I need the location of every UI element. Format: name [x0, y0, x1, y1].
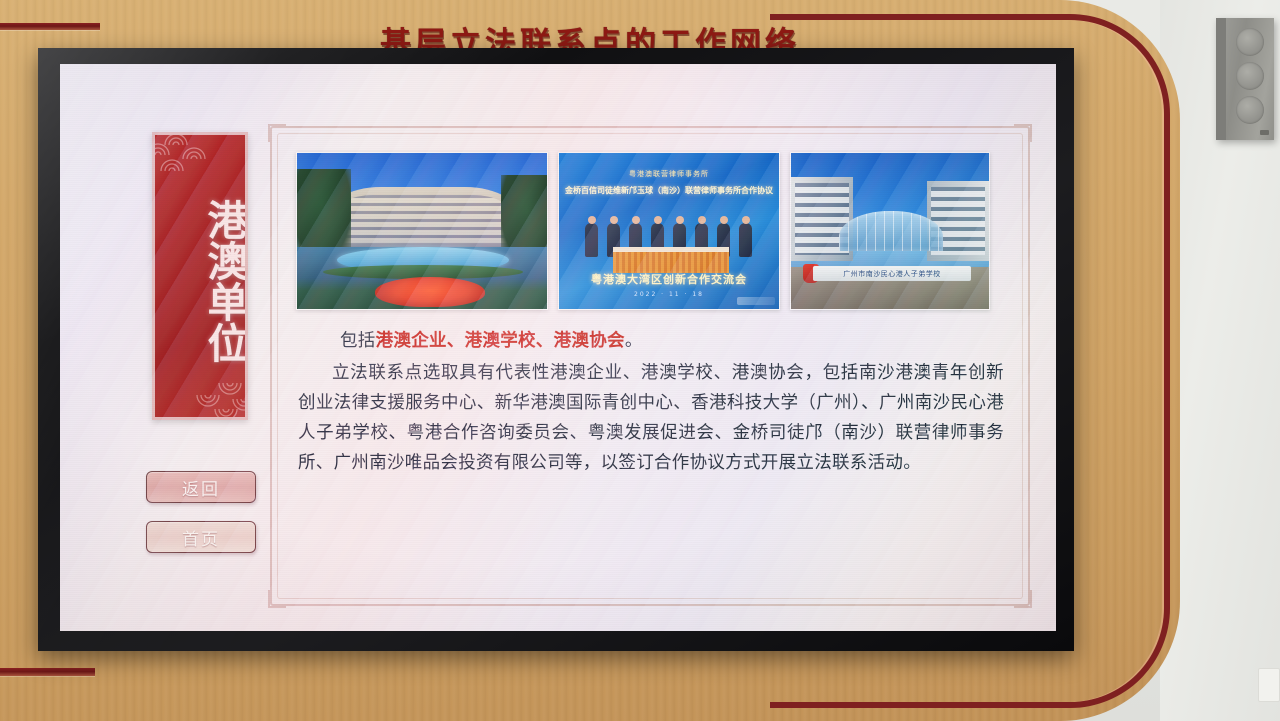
- back-button[interactable]: 返回: [146, 471, 256, 503]
- section-banner-label: 港澳单位: [155, 181, 245, 381]
- photo-signing-table: [613, 247, 729, 273]
- presentation-screen: 港澳单位 返回 首页: [60, 64, 1056, 631]
- television-bezel: 港澳单位 返回 首页: [38, 48, 1074, 651]
- photo-person: [585, 223, 598, 257]
- frame-corner-icon: [268, 124, 286, 142]
- content-text-block: 包括港澳企业、港澳学校、港澳协会。 立法联系点选取具有代表性港澳企业、港澳学校、…: [298, 326, 1004, 478]
- frame-corner-icon: [1014, 124, 1032, 142]
- cloud-pattern-icon: [152, 132, 207, 177]
- photo-row: 粤港澳联营律师事务所 金桥百信司徒维新邝玉球（南沙）联营律师事务所合作协议 粤港…: [296, 152, 1004, 310]
- photo-watermark: [737, 297, 775, 305]
- speaker-driver-icon: [1236, 28, 1264, 56]
- photo-signing-ceremony[interactable]: 粤港澳联营律师事务所 金桥百信司徒维新邝玉球（南沙）联营律师事务所合作协议 粤港…: [558, 152, 780, 310]
- photo-school-sign: 广州市南沙民心港人子弟学校: [813, 266, 971, 281]
- frame-corner-icon: [1014, 590, 1032, 608]
- photo-campus-building[interactable]: [296, 152, 548, 310]
- content-lead-suffix: 。: [625, 331, 643, 351]
- wall-trim-top-left: [0, 23, 100, 30]
- frame-corner-icon: [268, 590, 286, 608]
- wall-trim-bottom-left: [0, 668, 95, 676]
- section-banner: 港澳单位: [152, 132, 248, 420]
- wall-outlet-plate: [1258, 668, 1280, 702]
- photo-school-sign-text: 广州市南沙民心港人子弟学校: [843, 269, 941, 279]
- room-scene: 基层立法联系点的工作网络: [0, 0, 1280, 721]
- speaker-driver-icon: [1236, 62, 1264, 90]
- photo-main-building: [323, 187, 523, 249]
- wall-speaker: [1216, 18, 1274, 140]
- photo-person: [739, 223, 752, 257]
- home-button[interactable]: 首页: [146, 521, 256, 553]
- photo-backdrop-bottom-text: 粤港澳大湾区创新合作交流会: [559, 271, 779, 287]
- photo-school[interactable]: 广州市南沙民心港人子弟学校: [790, 152, 990, 310]
- content-lead-prefix: 包括: [340, 331, 376, 351]
- content-lead-line: 包括港澳企业、港澳学校、港澳协会。: [340, 326, 1004, 356]
- photo-backdrop-top-text: 粤港澳联营律师事务所: [559, 169, 779, 179]
- photo-flower-bed: [375, 277, 485, 307]
- speaker-badge: [1260, 130, 1269, 135]
- content-lead-highlight: 港澳企业、港澳学校、港澳协会: [376, 331, 625, 351]
- content-paragraph: 立法联系点选取具有代表性港澳企业、港澳学校、港澳协会，包括南沙港澳青年创新创业法…: [298, 358, 1004, 478]
- photo-backdrop-main-text: 金桥百信司徒维新邝玉球（南沙）联营律师事务所合作协议: [561, 185, 777, 196]
- cloud-pattern-icon: [195, 377, 248, 420]
- speaker-driver-icon: [1236, 96, 1264, 124]
